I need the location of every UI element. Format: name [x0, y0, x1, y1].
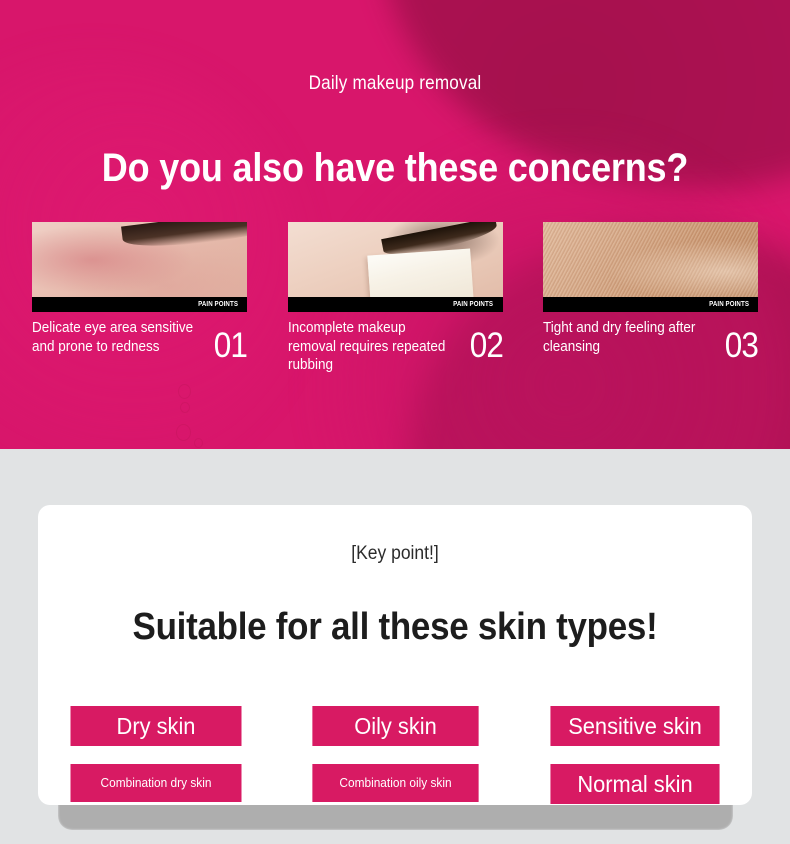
skin-type-tag-combination-dry-skin[interactable]: Combination dry skin — [71, 764, 242, 802]
pain-points-list: PAIN POINTS Delicate eye area sensitive … — [32, 222, 758, 375]
pain-point-card-03: PAIN POINTS Tight and dry feeling after … — [543, 222, 758, 375]
pain-points-badge-label: PAIN POINTS — [709, 301, 755, 308]
pain-point-card-01: PAIN POINTS Delicate eye area sensitive … — [32, 222, 247, 375]
pain-points-badge-label: PAIN POINTS — [453, 301, 499, 308]
pain-point-photo: PAIN POINTS — [543, 222, 758, 312]
pain-points-badge: PAIN POINTS — [288, 297, 503, 312]
pain-points-badge: PAIN POINTS — [543, 297, 758, 312]
pain-point-text: Delicate eye area sensitive and prone to… — [32, 319, 198, 356]
pain-point-photo: PAIN POINTS — [32, 222, 247, 312]
page-title: Do you also have these concerns? — [40, 145, 751, 191]
pain-points-badge: PAIN POINTS — [32, 297, 247, 312]
skin-type-column-dry: Dry skin Combination dry skin — [66, 706, 272, 804]
hero-section: Daily makeup removal Do you also have th… — [0, 0, 790, 449]
pain-point-text: Tight and dry feeling after cleansing — [543, 319, 709, 356]
panel-eyebrow: [Key point!] — [67, 505, 724, 565]
skin-type-tag-normal-skin[interactable]: Normal skin — [550, 764, 719, 804]
pain-point-number: 01 — [214, 329, 247, 363]
pain-point-number: 03 — [725, 329, 758, 363]
skin-type-column-oily: Oily skin Combination oily skin — [292, 706, 498, 804]
skin-type-tag-combination-oily-skin[interactable]: Combination oily skin — [312, 764, 478, 802]
skin-types-panel: [Key point!] Suitable for all these skin… — [38, 505, 752, 805]
pain-point-number: 02 — [469, 329, 502, 363]
hero-eyebrow: Daily makeup removal — [40, 73, 751, 95]
skin-type-column-sensitive: Sensitive skin Normal skin — [518, 706, 724, 804]
pain-point-text: Incomplete makeup removal requires repea… — [288, 319, 454, 375]
skin-type-tag-sensitive-skin[interactable]: Sensitive skin — [550, 706, 719, 746]
skin-type-tag-oily-skin[interactable]: Oily skin — [312, 706, 478, 746]
pain-point-photo: PAIN POINTS — [288, 222, 503, 312]
skin-type-columns: Dry skin Combination dry skin Oily skin … — [38, 680, 752, 804]
panel-title: Suitable for all these skin types! — [67, 597, 724, 649]
pain-point-card-02: PAIN POINTS Incomplete makeup removal re… — [288, 222, 503, 375]
skin-type-tag-dry-skin[interactable]: Dry skin — [71, 706, 242, 746]
pain-points-badge-label: PAIN POINTS — [198, 301, 244, 308]
